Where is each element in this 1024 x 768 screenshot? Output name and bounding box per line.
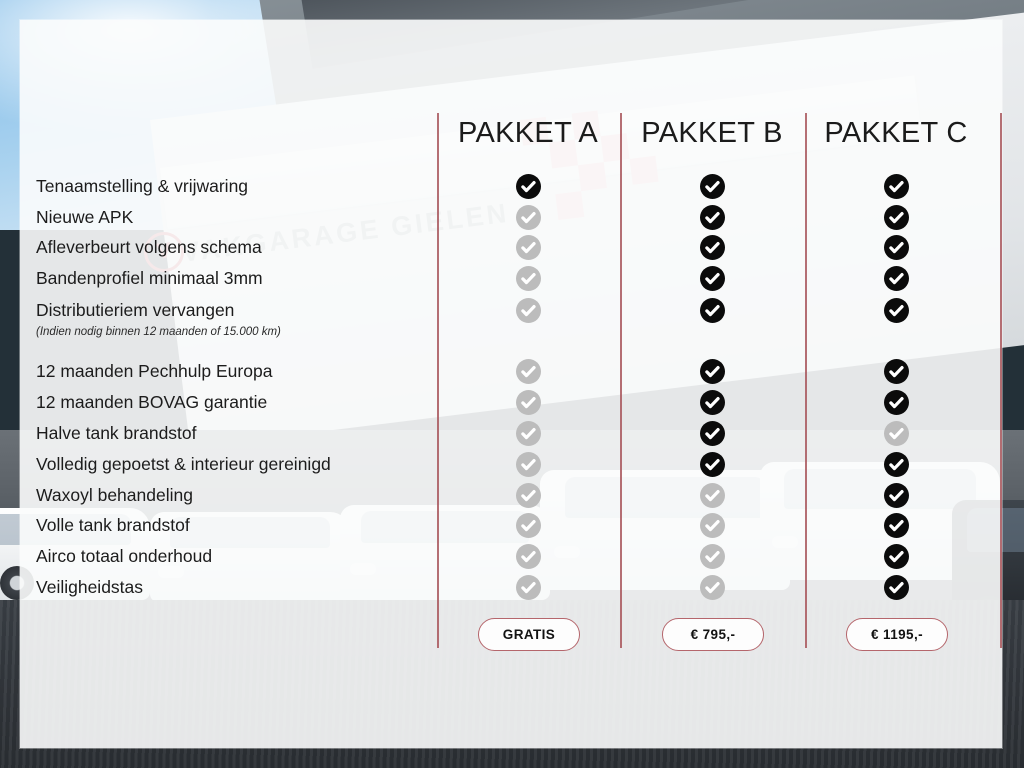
check-included-c: [884, 298, 909, 323]
feature-label: Airco totaal onderhoud: [36, 546, 212, 567]
check-excluded-a: [516, 390, 541, 415]
check-included-b: [700, 174, 725, 199]
check-excluded-a: [516, 205, 541, 230]
check-excluded-a: [516, 544, 541, 569]
check-included-c: [884, 575, 909, 600]
check-included-c: [884, 544, 909, 569]
feature-label: Veiligheidstas: [36, 577, 143, 598]
check-excluded-a: [516, 575, 541, 600]
feature-label: Afleverbeurt volgens schema: [36, 237, 262, 258]
check-included-b: [700, 298, 725, 323]
check-excluded-a: [516, 235, 541, 260]
comparison-table: PAKKET AGRATISPAKKET B€ 795,-PAKKET C€ 1…: [0, 0, 1024, 768]
check-excluded-b: [700, 575, 725, 600]
column-divider-3: [805, 113, 807, 648]
check-included-b: [700, 266, 725, 291]
feature-label: Distributieriem vervangen: [36, 300, 234, 321]
check-excluded-c: [884, 421, 909, 446]
check-excluded-a: [516, 421, 541, 446]
check-included-c: [884, 513, 909, 538]
check-included-c: [884, 390, 909, 415]
column-divider-4: [1000, 113, 1002, 648]
check-excluded-b: [700, 513, 725, 538]
price-badge-b[interactable]: € 795,-: [662, 618, 764, 651]
check-excluded-a: [516, 483, 541, 508]
feature-label: 12 maanden Pechhulp Europa: [36, 361, 272, 382]
column-header-b: PAKKET B: [637, 113, 787, 153]
feature-label: Nieuwe APK: [36, 207, 133, 228]
check-excluded-a: [516, 266, 541, 291]
check-excluded-a: [516, 298, 541, 323]
check-excluded-a: [516, 513, 541, 538]
check-included-b: [700, 452, 725, 477]
column-header-a: PAKKET A: [453, 113, 603, 153]
price-badge-c[interactable]: € 1195,-: [846, 618, 948, 651]
check-included-c: [884, 205, 909, 230]
check-included-b: [700, 235, 725, 260]
check-included-b: [700, 359, 725, 384]
column-divider-1: [437, 113, 439, 648]
check-included-b: [700, 421, 725, 446]
check-included-c: [884, 483, 909, 508]
check-included-a: [516, 174, 541, 199]
feature-label: Waxoyl behandeling: [36, 485, 193, 506]
feature-label: Bandenprofiel minimaal 3mm: [36, 268, 263, 289]
check-excluded-b: [700, 544, 725, 569]
feature-label: Tenaamstelling & vrijwaring: [36, 176, 248, 197]
check-excluded-a: [516, 452, 541, 477]
check-included-c: [884, 174, 909, 199]
check-included-b: [700, 390, 725, 415]
comparison-table-screen: V VAKGARAGE GIELEN PAKKET AGRATISPAKKET …: [0, 0, 1024, 768]
check-excluded-a: [516, 359, 541, 384]
feature-label: Volle tank brandstof: [36, 515, 190, 536]
feature-label: Volledig gepoetst & interieur gereinigd: [36, 454, 331, 475]
check-excluded-b: [700, 483, 725, 508]
check-included-b: [700, 205, 725, 230]
check-included-c: [884, 266, 909, 291]
price-badge-a[interactable]: GRATIS: [478, 618, 580, 651]
column-header-c: PAKKET C: [821, 113, 971, 153]
check-included-c: [884, 452, 909, 477]
feature-label: 12 maanden BOVAG garantie: [36, 392, 267, 413]
check-included-c: [884, 359, 909, 384]
feature-label: Halve tank brandstof: [36, 423, 197, 444]
column-divider-2: [620, 113, 622, 648]
distribution-belt-note: (Indien nodig binnen 12 maanden of 15.00…: [36, 326, 281, 338]
check-included-c: [884, 235, 909, 260]
